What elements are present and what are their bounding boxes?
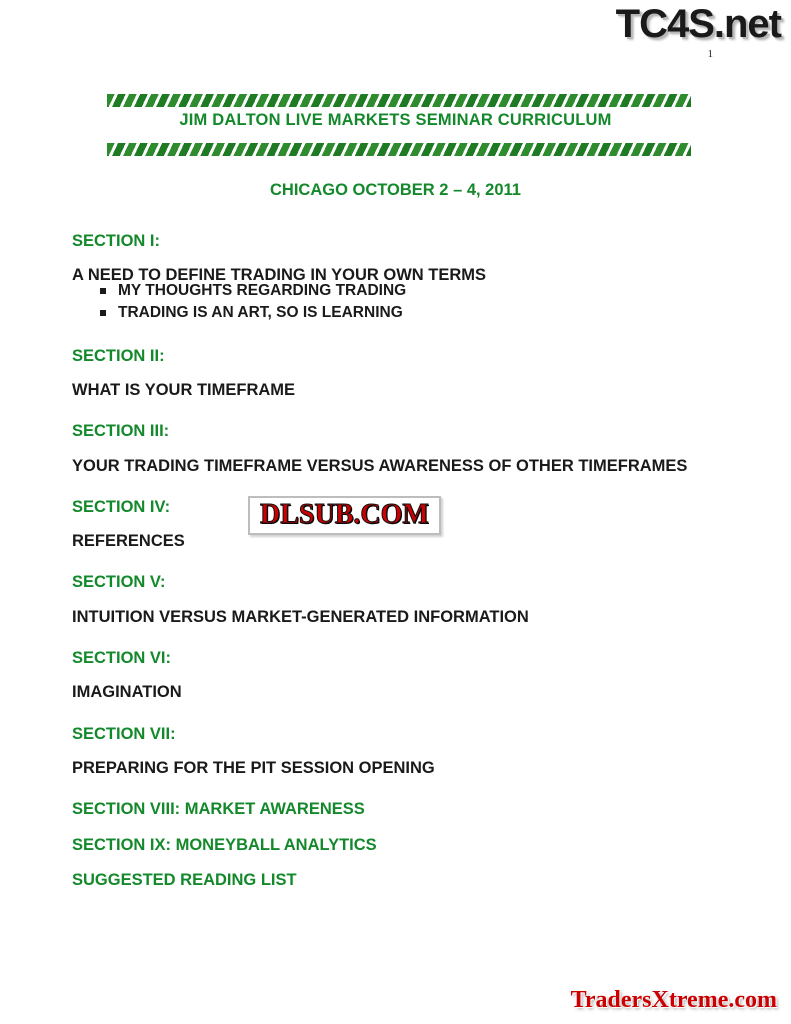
decorative-bar-top xyxy=(107,94,691,107)
section-1-bullets: MY THOUGHTS REGARDING TRADING TRADING IS… xyxy=(72,280,712,325)
section-9-heading: SECTION IX: MONEYBALL ANALYTICS xyxy=(72,836,712,855)
section-9-heading-label: SECTION IX: xyxy=(72,836,171,854)
section-3-body: YOUR TRADING TIMEFRAME VERSUS AWARENESS … xyxy=(72,456,697,476)
dlsub-watermark: DLSUB.COM xyxy=(248,496,441,535)
page-number: 1 xyxy=(708,48,714,60)
section-5-body: INTUITION VERSUS MARKET-GENERATED INFORM… xyxy=(72,607,712,627)
bullet-square-icon xyxy=(100,310,106,316)
section-7: SECTION VII: PREPARING FOR THE PIT SESSI… xyxy=(72,725,712,779)
document-page: TC4S.net 1 JIM DALTON LIVE MARKETS SEMIN… xyxy=(0,0,791,1024)
section-8: SECTION VIII: MARKET AWARENESS xyxy=(72,800,712,819)
section-2: SECTION II: WHAT IS YOUR TIMEFRAME xyxy=(72,347,712,401)
list-item: MY THOUGHTS REGARDING TRADING xyxy=(100,280,712,302)
document-subtitle: CHICAGO OCTOBER 2 – 4, 2011 xyxy=(0,181,791,200)
bullet-square-icon xyxy=(100,288,106,294)
section-8-inline-body: MARKET AWARENESS xyxy=(180,800,365,818)
tc4s-watermark: TC4S.net xyxy=(616,2,781,47)
section-2-heading: SECTION II: xyxy=(72,347,712,366)
section-2-body: WHAT IS YOUR TIMEFRAME xyxy=(72,380,712,400)
bullet-text: TRADING IS AN ART, SO IS LEARNING xyxy=(118,304,403,321)
document-title: JIM DALTON LIVE MARKETS SEMINAR CURRICUL… xyxy=(0,111,791,130)
section-6: SECTION VI: IMAGINATION xyxy=(72,649,712,703)
section-9: SECTION IX: MONEYBALL ANALYTICS xyxy=(72,836,712,855)
suggested-reading-list: SUGGESTED READING LIST xyxy=(72,871,712,890)
curriculum-content: SECTION I: A NEED TO DEFINE TRADING IN Y… xyxy=(72,232,712,907)
section-6-heading: SECTION VI: xyxy=(72,649,712,668)
section-7-body: PREPARING FOR THE PIT SESSION OPENING xyxy=(72,758,712,778)
list-item: TRADING IS AN ART, SO IS LEARNING xyxy=(100,302,712,324)
section-7-heading: SECTION VII: xyxy=(72,725,712,744)
section-3: SECTION III: YOUR TRADING TIMEFRAME VERS… xyxy=(72,422,712,476)
bullet-text: MY THOUGHTS REGARDING TRADING xyxy=(118,282,406,299)
tradersxtreme-watermark: TradersXtreme.com xyxy=(571,987,777,1014)
section-9-inline-body: MONEYBALL ANALYTICS xyxy=(171,836,377,854)
section-5: SECTION V: INTUITION VERSUS MARKET-GENER… xyxy=(72,573,712,627)
section-1-heading: SECTION I: xyxy=(72,232,712,251)
section-8-heading: SECTION VIII: MARKET AWARENESS xyxy=(72,800,712,819)
section-3-heading: SECTION III: xyxy=(72,422,712,441)
section-8-heading-label: SECTION VIII: xyxy=(72,800,180,818)
suggested-reading-list-heading: SUGGESTED READING LIST xyxy=(72,871,712,890)
section-1: SECTION I: A NEED TO DEFINE TRADING IN Y… xyxy=(72,232,712,325)
section-6-body: IMAGINATION xyxy=(72,682,712,702)
section-5-heading: SECTION V: xyxy=(72,573,712,592)
decorative-bar-bottom xyxy=(107,143,691,156)
